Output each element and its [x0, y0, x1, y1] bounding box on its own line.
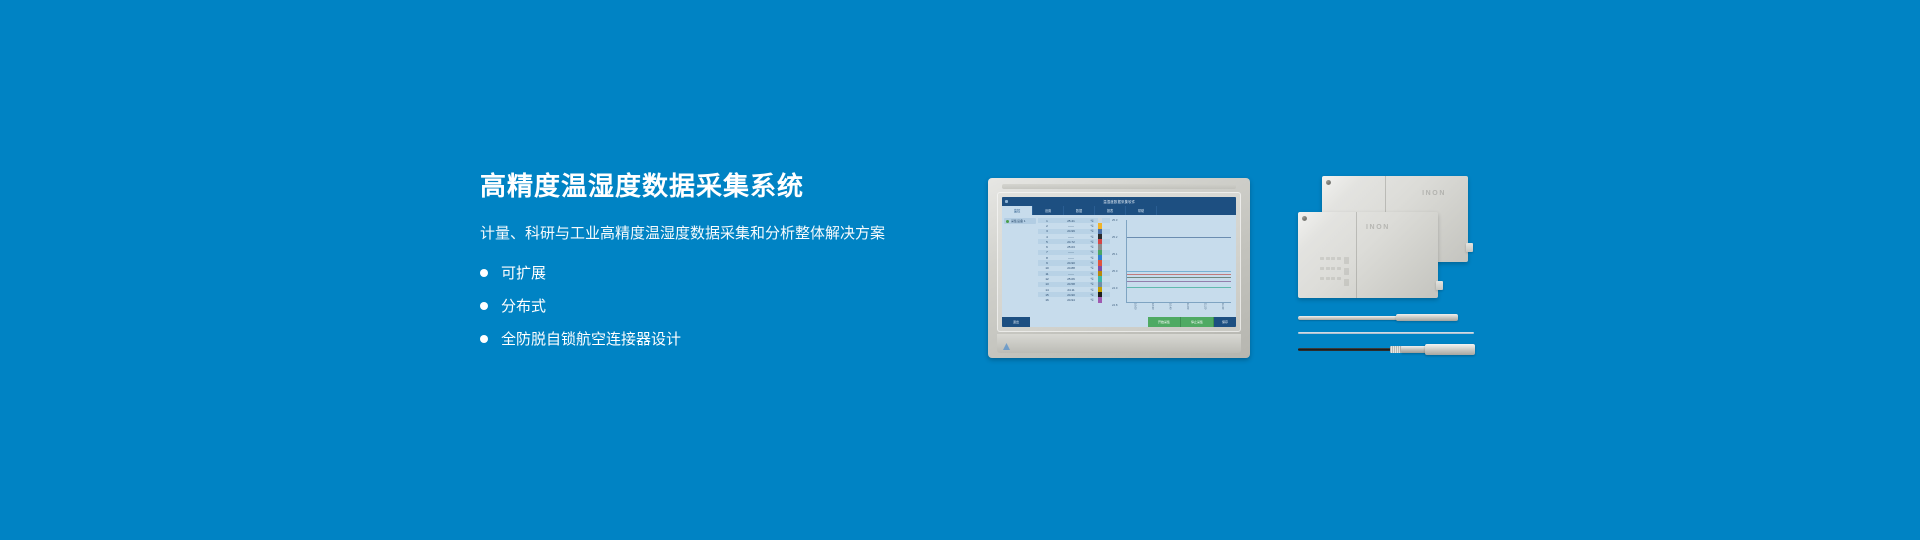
- module-brand-label: INON: [1366, 224, 1390, 231]
- chart-x-tick-label: 11:00: [1186, 303, 1189, 317]
- tab-monitor[interactable]: 监控: [1002, 206, 1033, 215]
- chart-series-line: [1127, 237, 1231, 238]
- module-etching-icon: [1320, 257, 1349, 286]
- cell-unit: ℃: [1086, 235, 1098, 239]
- chart-series-line: [1127, 271, 1231, 272]
- app-footer-bar: 退出 开始采集 停止采集 保存: [1002, 317, 1236, 327]
- stop-acquisition-button[interactable]: 停止采集: [1181, 317, 1214, 327]
- chart-y-tick-label: 25.1: [1112, 252, 1117, 256]
- monitor-screen: 温湿度数据采集软件 监控 设置 数据 报表 帮助: [1002, 197, 1236, 327]
- cell-unit: ℃: [1086, 266, 1098, 270]
- cell-value: ——: [1056, 250, 1086, 254]
- module-screw-icon: [1302, 216, 1307, 221]
- monitor-vent: [1002, 184, 1236, 189]
- cell-channel: 11: [1038, 272, 1056, 276]
- cell-unit: ℃: [1086, 272, 1098, 276]
- tab-settings[interactable]: 设置: [1033, 206, 1064, 215]
- cell-value: 24.88: [1056, 266, 1086, 270]
- cell-channel: 1: [1038, 219, 1056, 223]
- feature-list: 可扩展 分布式 全防脱自锁航空连接器设计: [480, 266, 950, 347]
- chart-x-tick-label: 10:00: [1133, 303, 1136, 317]
- cell-unit: ℃: [1086, 240, 1098, 244]
- cell-channel: 2: [1038, 224, 1056, 228]
- cell-series-color-swatch: [1098, 297, 1102, 302]
- cell-channel: 14: [1038, 288, 1056, 292]
- module-mount-tab: [1436, 281, 1443, 290]
- monitor-chin: [997, 334, 1241, 353]
- chart-x-axis: 10:0010:2010:4011:0011:2011:40: [1126, 303, 1231, 317]
- chart-series-line: [1127, 287, 1231, 288]
- cell-unit: ℃: [1086, 229, 1098, 233]
- chart-series-line: [1127, 277, 1231, 278]
- cell-unit: ℃: [1086, 277, 1098, 281]
- cell-value: 24.72: [1056, 240, 1086, 244]
- page-title: 高精度温湿度数据采集系统: [480, 172, 950, 201]
- chart-plot-area: [1126, 220, 1231, 303]
- hero-banner: 高精度温湿度数据采集系统 计量、科研与工业高精度温湿度数据采集和分析整体解决方案…: [0, 0, 1920, 540]
- cell-unit: ℃: [1086, 288, 1098, 292]
- module-brand-label: INON: [1422, 190, 1446, 197]
- device-status-icon: [1006, 220, 1009, 223]
- cell-value: ——: [1056, 235, 1086, 239]
- list-item: 全防脱自锁航空连接器设计: [480, 332, 950, 347]
- acquisition-modules-image: INON INON: [1298, 176, 1468, 301]
- cell-value: ——: [1056, 224, 1086, 228]
- tab-bar-filler: [1157, 206, 1236, 215]
- cell-value: 25.06: [1056, 277, 1086, 281]
- cell-value: 25.41: [1056, 219, 1086, 223]
- bullet-dot-icon: [480, 335, 488, 343]
- cell-value: 24.94: [1056, 298, 1086, 302]
- module-screw-icon: [1326, 180, 1331, 185]
- cell-channel: 15: [1038, 293, 1056, 297]
- device-tree-root[interactable]: 采集设备 1: [1004, 218, 1036, 224]
- cell-unit: ℃: [1086, 298, 1098, 302]
- hero-copy: 高精度温湿度数据采集系统 计量、科研与工业高精度温湿度数据采集和分析整体解决方案…: [480, 172, 950, 365]
- chart-x-tick-label: 11:40: [1221, 303, 1224, 317]
- chart-y-tick-label: 24.9: [1112, 286, 1117, 290]
- cell-value: 24.11: [1056, 288, 1086, 292]
- start-acquisition-button[interactable]: 开始采集: [1148, 317, 1181, 327]
- chart-series-line: [1127, 281, 1231, 282]
- cell-channel: 9: [1038, 261, 1056, 265]
- cell-value: 25.03: [1056, 245, 1086, 249]
- cell-value: 24.99: [1056, 229, 1086, 233]
- chart-y-tick-label: 24.8: [1112, 303, 1117, 307]
- feature-label: 可扩展: [501, 266, 546, 281]
- page-subtitle: 计量、科研与工业高精度温湿度数据采集和分析整体解决方案: [480, 223, 950, 244]
- chart-x-tick-label: 10:40: [1168, 303, 1171, 317]
- cell-unit: ℃: [1086, 250, 1098, 254]
- cell-unit: ℃: [1086, 256, 1098, 260]
- cell-unit: ℃: [1086, 282, 1098, 286]
- feature-label: 分布式: [501, 299, 546, 314]
- cell-channel: 5: [1038, 240, 1056, 244]
- cell-channel: 7: [1038, 250, 1056, 254]
- app-system-icon: [1005, 200, 1008, 203]
- chart-x-tick-label: 10:20: [1151, 303, 1154, 317]
- cell-channel: 13: [1038, 282, 1056, 286]
- cell-value: 24.90: [1056, 293, 1086, 297]
- exit-button[interactable]: 退出: [1002, 317, 1030, 327]
- app-body: 采集设备 1 125.41℃2——℃324.99℃4——℃524.72℃625.…: [1002, 215, 1236, 317]
- acquisition-module-front: INON: [1298, 212, 1438, 298]
- cell-unit: ℃: [1086, 224, 1098, 228]
- cell-channel: 12: [1038, 277, 1056, 281]
- table-row[interactable]: 1624.94℃: [1038, 297, 1110, 302]
- tab-help[interactable]: 帮助: [1126, 206, 1157, 215]
- sensor-probes-image: [1298, 308, 1478, 362]
- cell-value: ——: [1056, 272, 1086, 276]
- cell-channel: 10: [1038, 266, 1056, 270]
- chart-y-tick-label: 25.3: [1112, 218, 1117, 222]
- cell-channel: 6: [1038, 245, 1056, 249]
- chart-x-tick-label: 11:20: [1203, 303, 1206, 317]
- monitor-bezel: 温湿度数据采集软件 监控 设置 数据 报表 帮助: [997, 192, 1241, 332]
- device-tree-panel: 采集设备 1: [1002, 215, 1038, 317]
- list-item: 可扩展: [480, 266, 950, 281]
- cell-unit: ℃: [1086, 293, 1098, 297]
- cell-value: 24.90: [1056, 261, 1086, 265]
- chart-y-axis: 25.325.225.125.024.924.8: [1112, 218, 1125, 303]
- tab-report[interactable]: 报表: [1095, 206, 1126, 215]
- feature-label: 全防脱自锁航空连接器设计: [501, 332, 681, 347]
- module-mount-tab: [1466, 243, 1473, 252]
- cell-unit: ℃: [1086, 261, 1098, 265]
- list-item: 分布式: [480, 299, 950, 314]
- trend-chart: 25.325.225.125.024.924.8 10:0010:2010:40…: [1112, 218, 1233, 317]
- save-button[interactable]: 保存: [1214, 317, 1236, 327]
- app-tab-bar: 监控 设置 数据 报表 帮助: [1002, 206, 1236, 215]
- cell-channel: 8: [1038, 256, 1056, 260]
- bullet-dot-icon: [480, 269, 488, 277]
- cell-value: 24.58: [1056, 282, 1086, 286]
- cell-channel: 3: [1038, 229, 1056, 233]
- tab-data[interactable]: 数据: [1064, 206, 1095, 215]
- app-title-bar: 温湿度数据采集软件: [1002, 197, 1236, 206]
- panel-pc-image: 温湿度数据采集软件 监控 设置 数据 报表 帮助: [988, 178, 1250, 358]
- app-window-title: 温湿度数据采集软件: [1103, 199, 1135, 204]
- bullet-dot-icon: [480, 302, 488, 310]
- cell-channel: 16: [1038, 298, 1056, 302]
- chart-y-tick-label: 25.2: [1112, 235, 1117, 239]
- cell-channel: 4: [1038, 235, 1056, 239]
- cell-unit: ℃: [1086, 245, 1098, 249]
- footer-spacer: [1030, 317, 1148, 327]
- vendor-logo-icon: [1002, 342, 1011, 351]
- cell-unit: ℃: [1086, 219, 1098, 223]
- cell-value: ——: [1056, 256, 1086, 260]
- channel-table: 125.41℃2——℃324.99℃4——℃524.72℃625.03℃7——℃…: [1038, 215, 1110, 317]
- device-tree-label: 采集设备 1: [1011, 219, 1026, 223]
- chart-series-line: [1127, 274, 1231, 275]
- chart-y-tick-label: 25.0: [1112, 269, 1117, 273]
